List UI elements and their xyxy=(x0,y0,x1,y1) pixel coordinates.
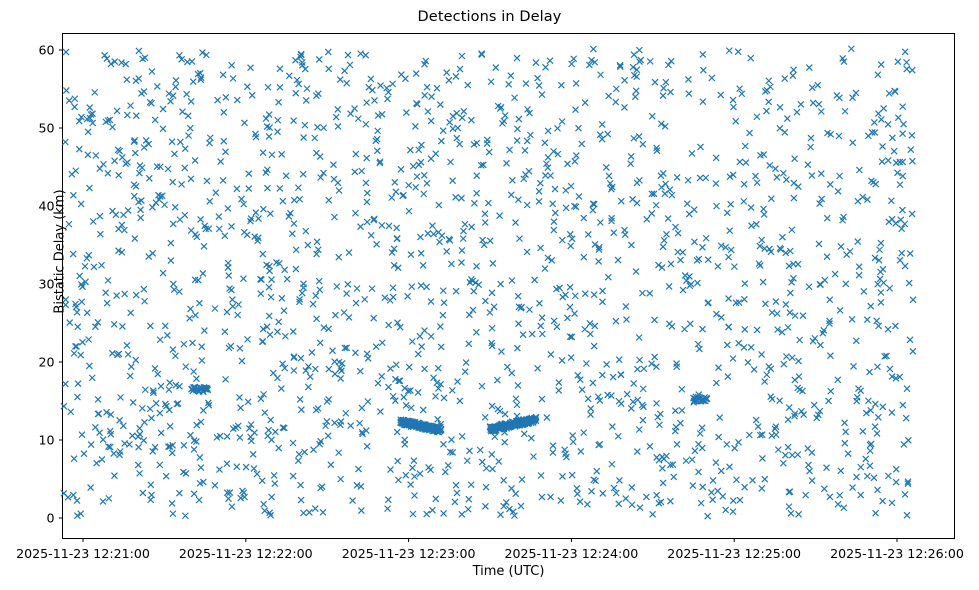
x-axis-label: Time (UTC) xyxy=(62,564,955,579)
x-tick-label: 2025-11-23 12:25:00 xyxy=(667,546,801,561)
y-tick-label: 20 xyxy=(15,355,55,370)
y-tick-label: 30 xyxy=(15,277,55,292)
y-tick-label: 40 xyxy=(15,199,55,214)
y-tick-label: 60 xyxy=(15,43,55,58)
y-tick-label: 10 xyxy=(15,433,55,448)
y-axis-label: Bistatic Delay (km) xyxy=(53,152,68,352)
x-tick-label: 2025-11-23 12:23:00 xyxy=(342,546,476,561)
y-tick-label: 0 xyxy=(15,511,55,526)
x-tick-label: 2025-11-23 12:21:00 xyxy=(16,546,150,561)
chart-figure: Detections in Delay 2025-11-23 12:21:002… xyxy=(0,0,979,590)
x-tick-label: 2025-11-23 12:26:00 xyxy=(830,546,964,561)
x-tick-label: 2025-11-23 12:24:00 xyxy=(505,546,639,561)
scatter-plot-canvas xyxy=(0,0,979,590)
y-tick-label: 50 xyxy=(15,121,55,136)
x-tick-label: 2025-11-23 12:22:00 xyxy=(179,546,313,561)
